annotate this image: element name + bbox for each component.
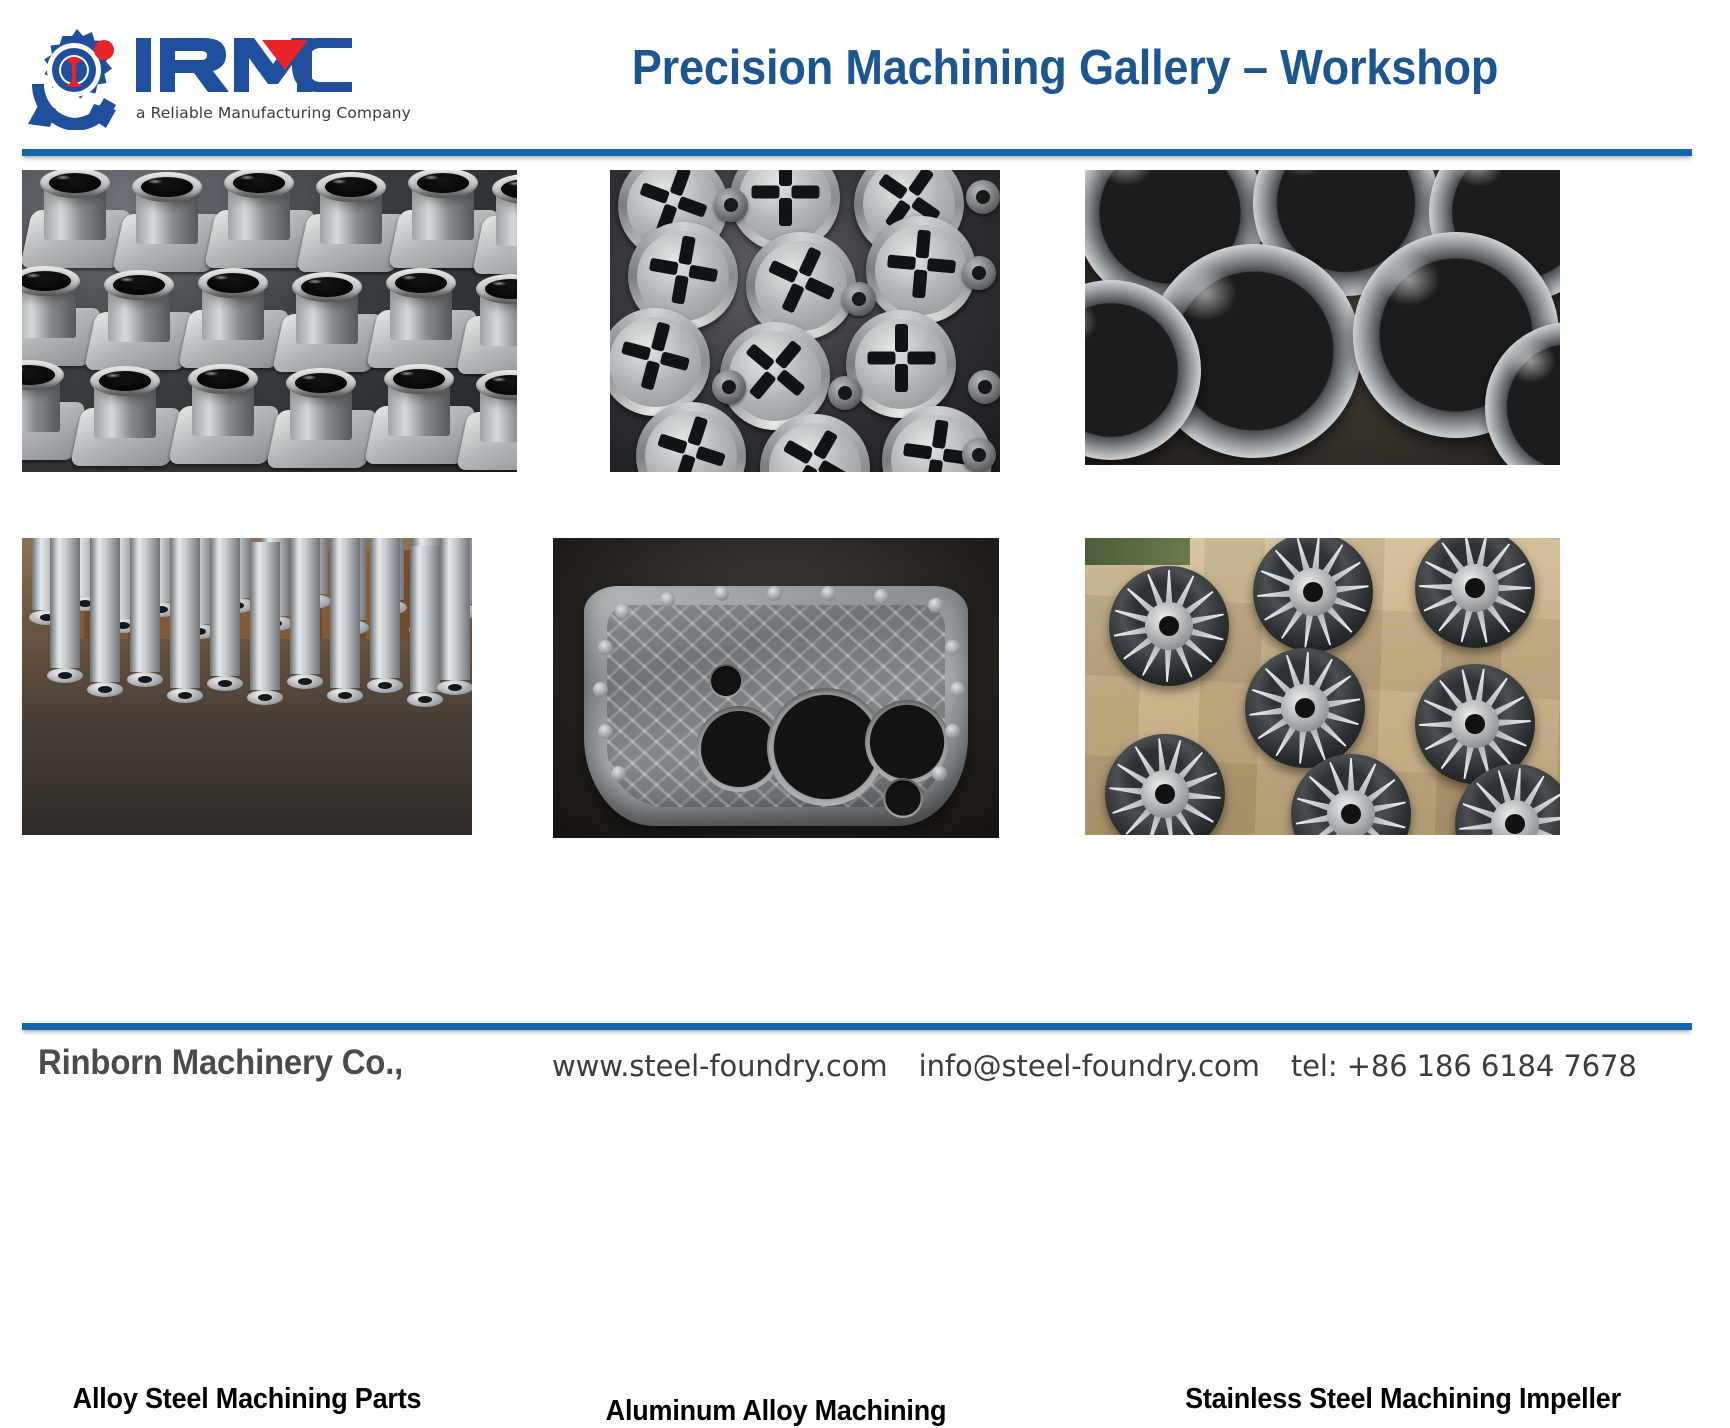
gallery-grid: Ductile Iron Machining Parts <box>0 0 1730 1153</box>
gallery-item-caption: Aluminum Alloy Machining <box>539 1395 1013 1428</box>
contact-info: www.steel-foundry.com info@steel-foundry… <box>552 1049 1637 1083</box>
phone-number: tel: +86 186 6184 7678 <box>1291 1049 1637 1083</box>
stainless-steel-impellers-photo[interactable] <box>1085 538 1560 835</box>
gallery-item-caption: Stainless Steel Machining Impeller <box>1096 1383 1710 1416</box>
alloy-steel-bores-photo[interactable] <box>1085 170 1560 465</box>
company-name: Rinborn Machinery Co., <box>38 1043 403 1083</box>
alloy-steel-threaded-shafts-photo[interactable] <box>22 538 472 835</box>
website-link[interactable]: www.steel-foundry.com <box>552 1049 888 1083</box>
page-footer: Rinborn Machinery Co., www.steel-foundry… <box>0 1023 1730 1153</box>
email-link[interactable]: info@steel-foundry.com <box>919 1049 1260 1083</box>
gallery-item-caption: Alloy Steel Machining Parts <box>10 1383 484 1416</box>
aluminum-transmission-housing-photo[interactable] <box>553 538 999 838</box>
ductile-iron-hubs-photo[interactable] <box>22 170 517 472</box>
ductile-iron-slotted-discs-photo[interactable] <box>610 170 1000 472</box>
